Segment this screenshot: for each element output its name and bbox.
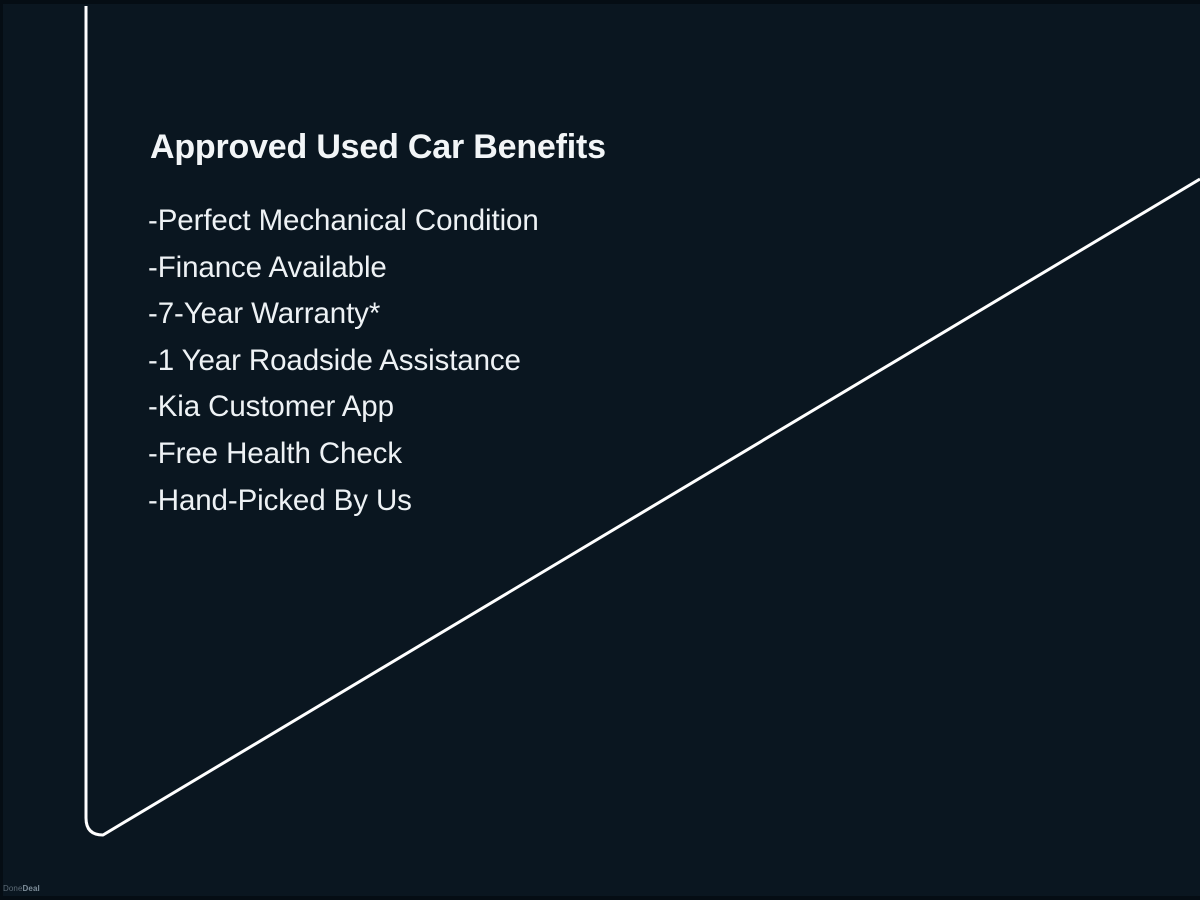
list-item-label: 7-Year Warranty* [158, 297, 380, 330]
watermark: DoneDeal [3, 884, 40, 894]
list-item-label: Perfect Mechanical Condition [158, 204, 539, 237]
bullet-marker: - [148, 297, 158, 330]
watermark-suffix: Deal [23, 884, 40, 893]
list-item-label: 1 Year Roadside Assistance [158, 344, 521, 377]
bottom-edge-band [0, 896, 1200, 900]
list-item: -Finance Available [148, 245, 908, 292]
bullet-marker: - [148, 437, 158, 470]
bullet-marker: - [148, 251, 158, 284]
list-item: -Free Health Check [148, 431, 908, 478]
list-item: -Kia Customer App [148, 384, 908, 431]
content-block: Approved Used Car Benefits -Perfect Mech… [148, 130, 908, 524]
slide-canvas: Approved Used Car Benefits -Perfect Mech… [0, 0, 1200, 900]
bullet-marker: - [148, 484, 158, 517]
list-item-label: Free Health Check [158, 437, 402, 470]
list-item: -Perfect Mechanical Condition [148, 198, 908, 245]
watermark-prefix: Done [3, 884, 23, 893]
left-edge-band [0, 0, 3, 900]
list-item-label: Finance Available [158, 251, 387, 284]
bullet-marker: - [148, 390, 158, 423]
top-edge-band [0, 0, 1200, 4]
bullet-marker: - [148, 204, 158, 237]
list-item: -7-Year Warranty* [148, 291, 908, 338]
list-item: -Hand-Picked By Us [148, 478, 908, 525]
benefits-list: -Perfect Mechanical Condition -Finance A… [148, 198, 908, 524]
list-item-label: Kia Customer App [158, 390, 394, 423]
list-item-label: Hand-Picked By Us [158, 484, 412, 517]
page-title: Approved Used Car Benefits [150, 130, 908, 164]
list-item: -1 Year Roadside Assistance [148, 338, 908, 385]
bullet-marker: - [148, 344, 158, 377]
